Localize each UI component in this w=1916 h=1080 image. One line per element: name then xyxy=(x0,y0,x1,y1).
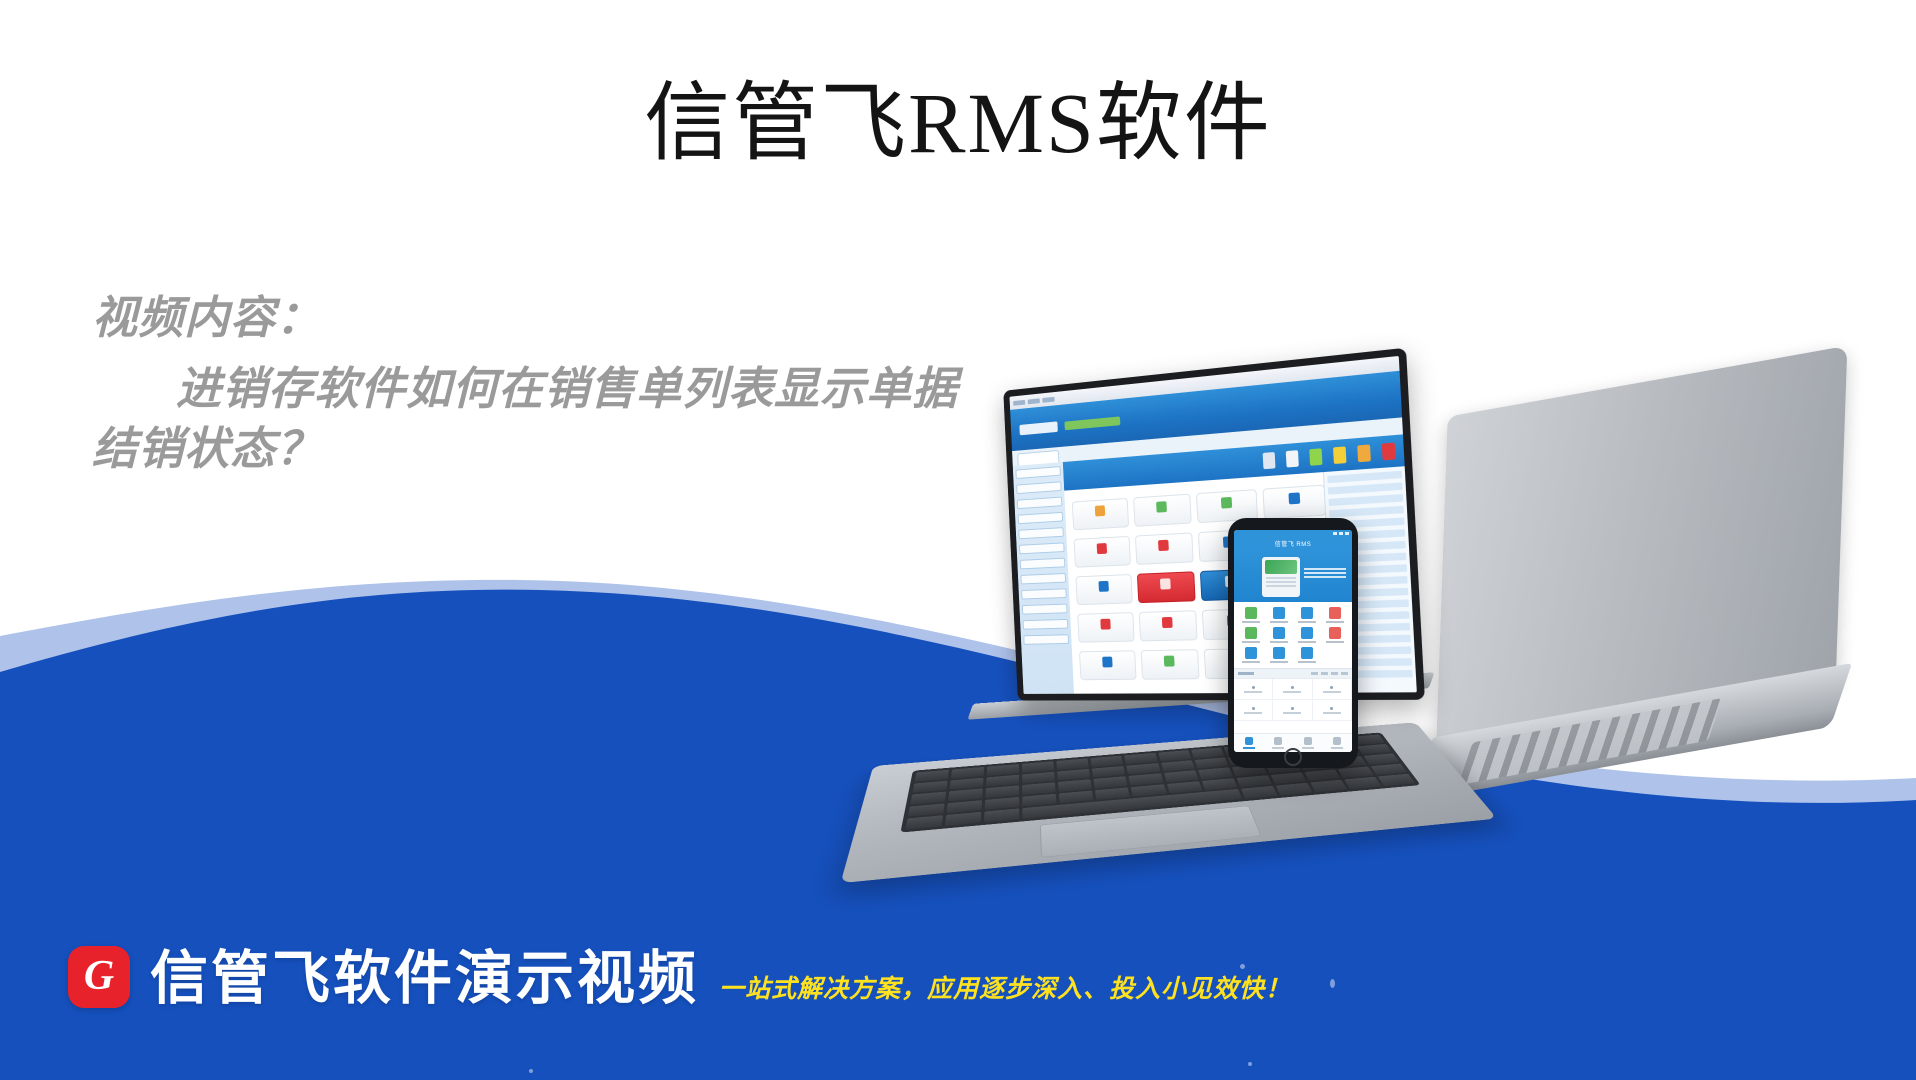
phone-grid-item xyxy=(1322,627,1348,643)
sidebar-item xyxy=(1016,466,1061,479)
app-grid-icon xyxy=(1136,571,1195,603)
battery-icon xyxy=(1345,532,1349,535)
phone-grid-item xyxy=(1322,607,1348,623)
app-grid-icon xyxy=(1077,612,1134,643)
key xyxy=(1364,753,1400,764)
body-lead: 视频内容： xyxy=(92,288,1112,347)
nav-label xyxy=(1302,747,1314,749)
key xyxy=(1129,773,1163,785)
phone-home-button xyxy=(1284,748,1302,766)
nav-glyph xyxy=(1274,737,1282,745)
phone-grid-item xyxy=(1266,627,1292,643)
stat-icon xyxy=(1252,686,1255,689)
phone-grid-label xyxy=(1326,621,1344,623)
key xyxy=(1371,763,1408,775)
device-photo-group: 信管飞 RMS xyxy=(880,380,1916,940)
phone-grid-label xyxy=(1298,621,1316,623)
stat-label xyxy=(1244,712,1262,714)
key xyxy=(985,785,1019,798)
phone-grid-label xyxy=(1298,661,1316,663)
stat-icon xyxy=(1330,686,1333,689)
nav-home-icon xyxy=(1234,737,1264,749)
key xyxy=(1337,766,1373,778)
brand-title: 信管飞软件演示视频 xyxy=(150,950,699,1008)
stat-cell xyxy=(1273,700,1312,721)
sidebar-item xyxy=(1020,558,1065,570)
stat-label xyxy=(1323,712,1341,714)
phone-grid-icon xyxy=(1245,627,1257,639)
banner-caption-line xyxy=(1304,572,1346,574)
stat-label xyxy=(1283,712,1301,714)
key xyxy=(1276,783,1313,796)
stat-icon xyxy=(1291,707,1294,710)
filter-tab xyxy=(1341,672,1348,675)
key xyxy=(905,815,943,829)
titlebar-chip xyxy=(1042,396,1054,402)
phone-grid-label xyxy=(1326,641,1344,643)
app-grid-icon xyxy=(1074,536,1131,568)
phone-grid-item xyxy=(1322,647,1348,663)
phone-banner xyxy=(1234,550,1352,602)
key xyxy=(1022,794,1056,807)
key xyxy=(1166,781,1201,793)
brand-tagline: 一站式解决方案，应用逐步深入、投入小见效快！ xyxy=(719,977,1291,1008)
phone-grid-icon xyxy=(1273,607,1285,619)
section-filter-tabs xyxy=(1311,672,1348,675)
banner-line xyxy=(1266,577,1296,579)
app-grid-icon xyxy=(1138,610,1197,641)
key xyxy=(1095,787,1130,800)
key xyxy=(1236,775,1272,787)
nav-label xyxy=(1331,747,1343,749)
stat-icon xyxy=(1252,707,1255,710)
app-grid-icon xyxy=(1140,649,1199,680)
phone-grid-icon xyxy=(1245,607,1257,619)
sidebar-item xyxy=(1018,512,1063,524)
stat-cell xyxy=(1234,679,1273,700)
phone-grid-item xyxy=(1238,647,1264,663)
right-panel-row xyxy=(1328,494,1403,506)
banner-line xyxy=(1266,581,1296,583)
app-grid-icon xyxy=(1079,650,1136,680)
phone-app-header: 信管飞 RMS xyxy=(1234,537,1352,550)
stat-icon xyxy=(1330,707,1333,710)
app-brand-subtitle xyxy=(1064,416,1120,430)
key xyxy=(984,809,1019,823)
footer-brand-bar: G 信管飞软件演示视频 一站式解决方案，应用逐步深入、投入小见效快！ xyxy=(0,880,1916,1080)
signal-icon xyxy=(1333,532,1337,535)
key xyxy=(985,797,1020,810)
app-brand-logo xyxy=(1019,421,1058,435)
banner-line xyxy=(1266,585,1296,587)
right-panel-row xyxy=(1327,471,1402,484)
footer-content: G 信管飞软件演示视频 一站式解决方案，应用逐步深入、投入小见效快！ xyxy=(68,946,1291,1008)
toolbar-icon xyxy=(1286,450,1299,467)
key xyxy=(1059,790,1094,803)
key xyxy=(1094,776,1128,788)
sidebar-item xyxy=(1019,542,1064,554)
titlebar-chip xyxy=(1028,398,1040,404)
wifi-icon xyxy=(1339,532,1343,535)
key xyxy=(1201,778,1237,790)
sidebar-item xyxy=(1023,634,1069,645)
toolbar-icon xyxy=(1333,446,1346,464)
banner-caption-line xyxy=(1304,568,1346,570)
key xyxy=(945,812,982,826)
sidebar-item xyxy=(1021,573,1067,584)
key xyxy=(1198,767,1233,779)
phone-grid-label xyxy=(1242,621,1260,623)
sidebar-item xyxy=(1018,527,1063,539)
phone-grid-icon xyxy=(1301,607,1313,619)
toolbar-icon xyxy=(1309,448,1322,465)
phone-grid-item xyxy=(1266,647,1292,663)
sidebar-item xyxy=(1016,481,1061,494)
sidebar-item xyxy=(1023,619,1069,630)
phone-grid-label xyxy=(1298,641,1316,643)
laptop-front xyxy=(880,370,1500,890)
banner-caption-line xyxy=(1304,576,1346,578)
phone-grid-label xyxy=(1242,661,1260,663)
app-grid-icon xyxy=(1135,532,1194,565)
app-grid-icon xyxy=(1072,498,1129,530)
laptop-keyboard-base xyxy=(840,722,1497,883)
app-grid-icon xyxy=(1262,484,1326,519)
phone-grid-item xyxy=(1238,607,1264,623)
key xyxy=(1310,780,1347,792)
stat-label xyxy=(1323,691,1341,693)
company-logo-icon: G xyxy=(68,946,130,1008)
filter-tab xyxy=(1321,672,1328,675)
toolbar-icon xyxy=(1382,442,1396,460)
slide-title: 信管飞RMS软件 xyxy=(0,78,1916,168)
filter-tab xyxy=(1311,672,1318,675)
right-panel-row xyxy=(1328,482,1403,494)
banner-caption xyxy=(1304,568,1346,580)
smartphone: 信管飞 RMS xyxy=(1228,518,1358,768)
key xyxy=(1131,784,1166,797)
key xyxy=(1357,744,1392,755)
key xyxy=(1058,779,1092,791)
key xyxy=(1378,774,1416,786)
banner-image xyxy=(1265,560,1297,574)
stat-label xyxy=(1283,691,1301,693)
key xyxy=(1270,772,1306,784)
nav-glyph xyxy=(1333,737,1341,745)
phone-grid-item xyxy=(1294,647,1320,663)
phone-status-bar xyxy=(1234,530,1352,537)
key xyxy=(1163,770,1198,782)
nav-label xyxy=(1272,747,1284,749)
filter-tab xyxy=(1331,672,1338,675)
nav-glyph xyxy=(1245,737,1253,745)
phone-section-header xyxy=(1234,668,1352,678)
laptop-screen-bezel xyxy=(1003,348,1425,701)
right-panel-row xyxy=(1329,506,1404,518)
key xyxy=(1304,769,1340,781)
phone-grid-label xyxy=(1270,661,1288,663)
section-title xyxy=(1238,672,1254,675)
stat-cell xyxy=(1273,679,1312,700)
phone-grid-icon xyxy=(1301,647,1313,659)
app-grid-icon xyxy=(1075,574,1132,605)
nav-grid-icon xyxy=(1264,737,1294,749)
banner-device-illustration xyxy=(1262,557,1300,597)
phone-grid-label xyxy=(1242,641,1260,643)
app-grid-icon xyxy=(1133,494,1192,527)
presentation-slide: 信管飞RMS软件 视频内容： 进销存软件如何在销售单列表显示单据 结销状态？ xyxy=(0,0,1916,1080)
phone-grid-icon xyxy=(1273,647,1285,659)
key xyxy=(1241,786,1278,799)
phone-screen: 信管飞 RMS xyxy=(1234,530,1352,752)
titlebar-chip xyxy=(1013,399,1025,405)
stat-label xyxy=(1244,691,1262,693)
sidebar-item xyxy=(1017,497,1062,510)
sidebar-item xyxy=(1022,604,1068,615)
sidebar-item xyxy=(1021,588,1067,599)
logo-glyph: G xyxy=(68,946,130,1008)
phone-grid-item xyxy=(1294,607,1320,623)
phone-grid-label xyxy=(1270,641,1288,643)
phone-grid-item xyxy=(1266,607,1292,623)
phone-stats-grid xyxy=(1234,678,1352,721)
nav-label xyxy=(1243,747,1255,749)
phone-icon-grid xyxy=(1234,602,1352,668)
phone-grid-item xyxy=(1294,627,1320,643)
nav-chart-icon xyxy=(1293,737,1323,749)
stat-cell xyxy=(1234,700,1273,721)
phone-grid-icon xyxy=(1329,627,1341,639)
toolbar-icon xyxy=(1263,452,1276,469)
stat-cell xyxy=(1313,679,1352,700)
phone-grid-icon xyxy=(1245,647,1257,659)
body-line-1-text: 进销存软件如何在销售单列表显示单据 xyxy=(176,363,958,414)
nav-profile-icon xyxy=(1323,737,1353,749)
stat-icon xyxy=(1291,686,1294,689)
phone-grid-label xyxy=(1270,621,1288,623)
phone-grid-icon xyxy=(1301,627,1313,639)
key xyxy=(1344,777,1381,789)
nav-glyph xyxy=(1304,737,1312,745)
toolbar-icon xyxy=(1357,444,1371,462)
phone-grid-item xyxy=(1238,627,1264,643)
phone-grid-icon xyxy=(1273,627,1285,639)
phone-grid-icon xyxy=(1329,607,1341,619)
stat-cell xyxy=(1313,700,1352,721)
